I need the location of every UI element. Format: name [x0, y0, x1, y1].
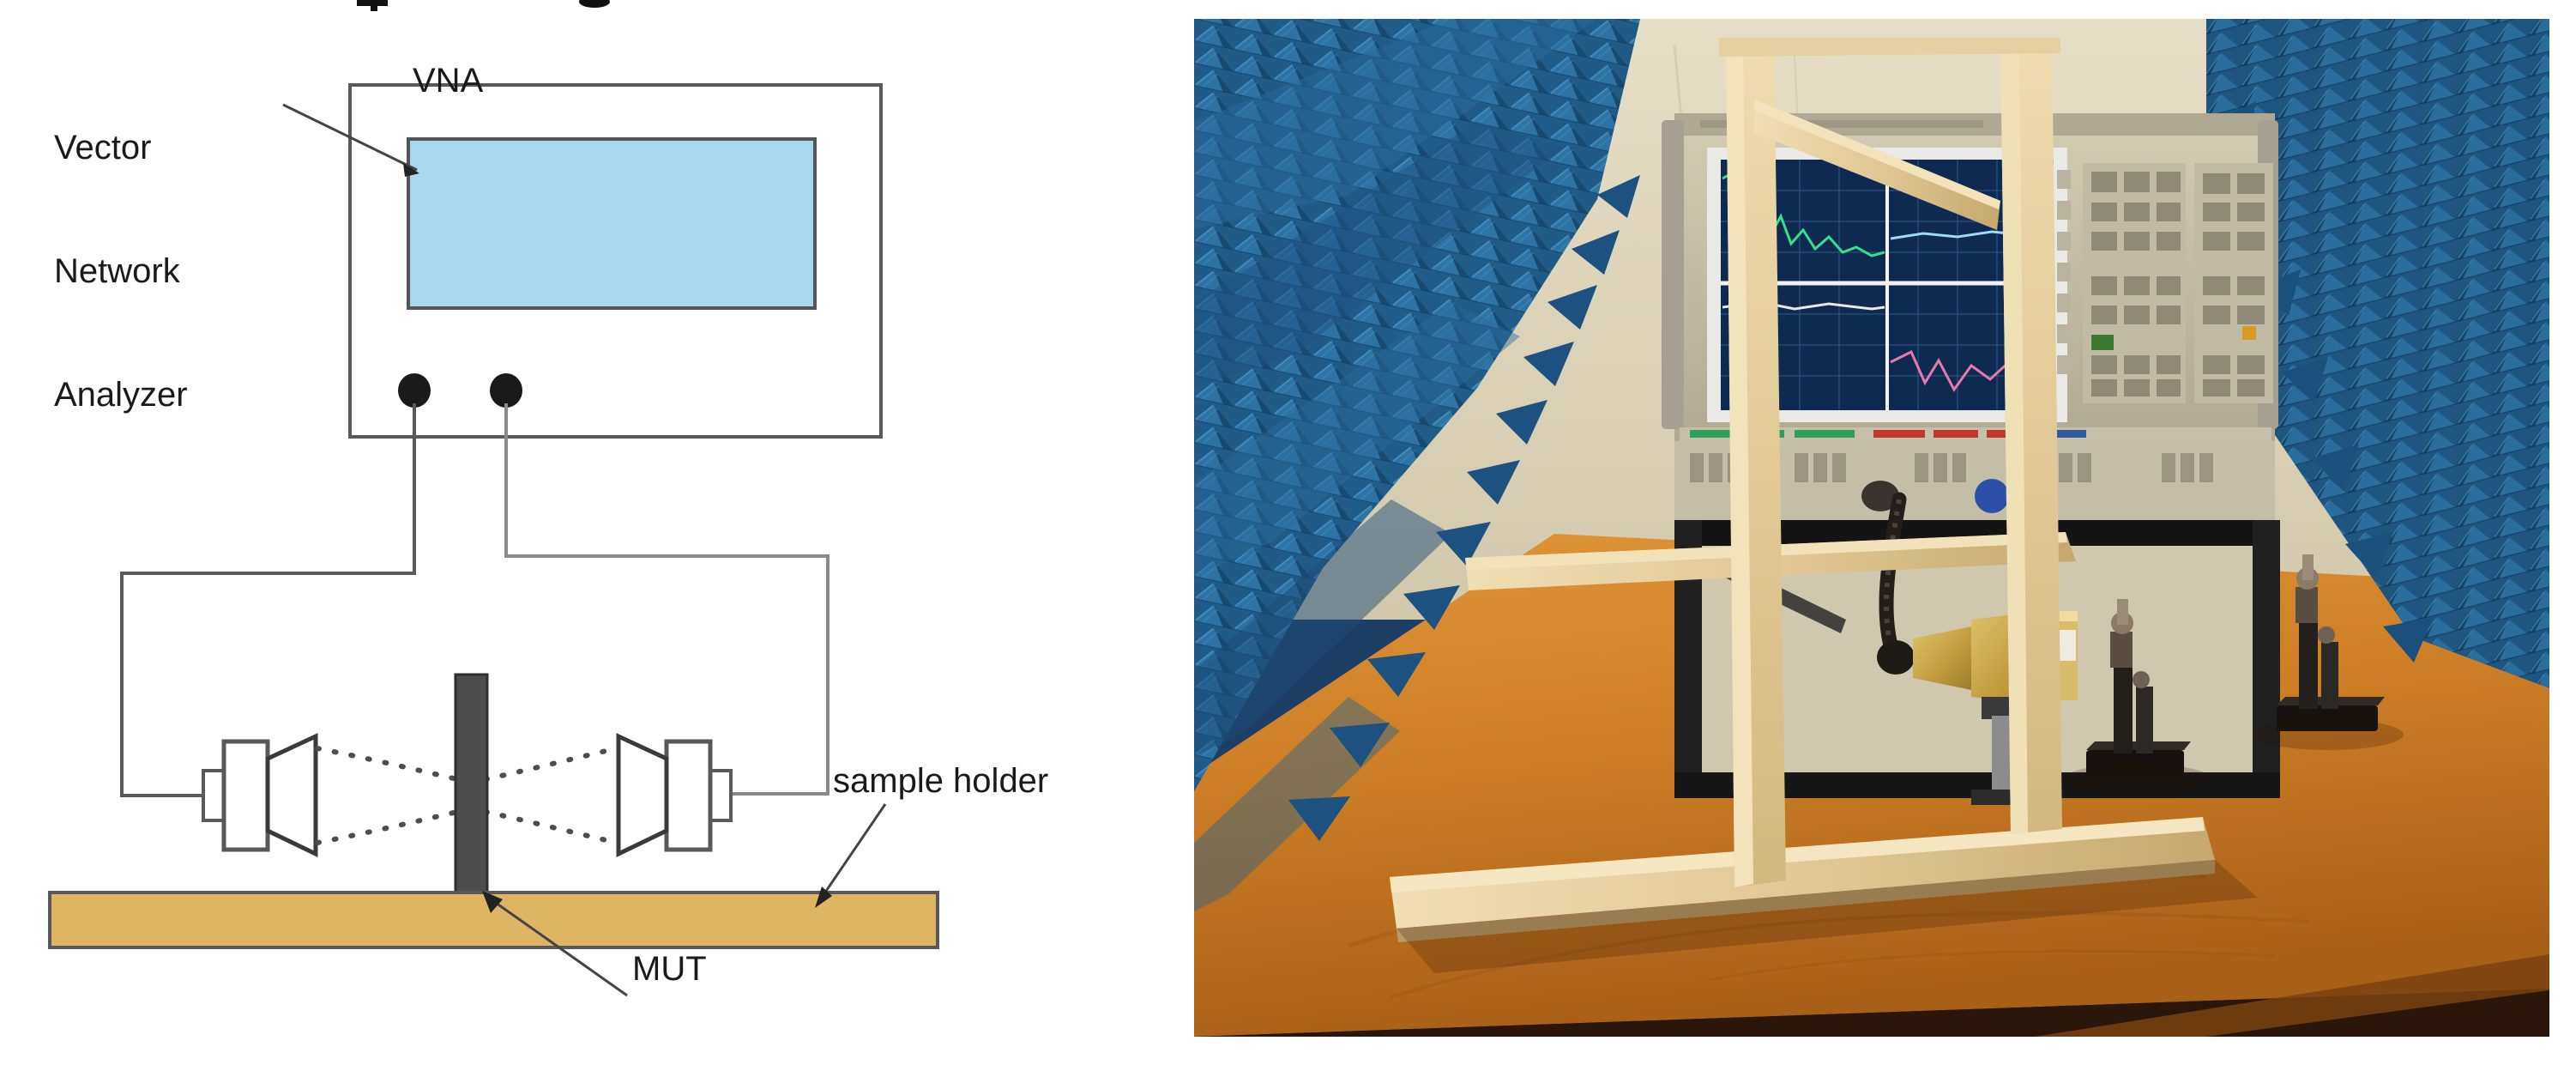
mut-slab: [455, 675, 487, 893]
vna-port-1: [398, 373, 431, 408]
vna-port-knob-2: [1975, 479, 2009, 513]
vna-screen: [408, 139, 815, 308]
schematic-panel: Vector Network Analyzer VNA sample holde…: [0, 0, 1194, 1065]
vna-label-line-1: Vector: [54, 127, 188, 168]
cable-right: [506, 403, 828, 794]
photograph-panel: [1194, 19, 2549, 1037]
anechoic-chamber-photo: [1194, 19, 2549, 1037]
figure-root: Vector Network Analyzer VNA sample holde…: [0, 0, 2576, 1065]
vna-keypad-cluster-left: [2083, 163, 2186, 403]
vna-label-line-2: Network: [54, 251, 188, 292]
clipped-title-fragments: [357, 0, 610, 11]
horn-antenna-right: [618, 736, 731, 854]
sample-holder-label: sample holder: [833, 760, 1048, 802]
vna-label-line-3: Analyzer: [54, 374, 188, 415]
vna-keypad-cluster-right: [2194, 163, 2273, 403]
vna-port-2: [490, 373, 522, 408]
horn-antenna-left: [203, 736, 316, 854]
mut-label: MUT: [632, 948, 707, 989]
vna-box-title: VNA: [413, 60, 483, 101]
vector-network-analyzer-label: Vector Network Analyzer: [54, 45, 188, 498]
